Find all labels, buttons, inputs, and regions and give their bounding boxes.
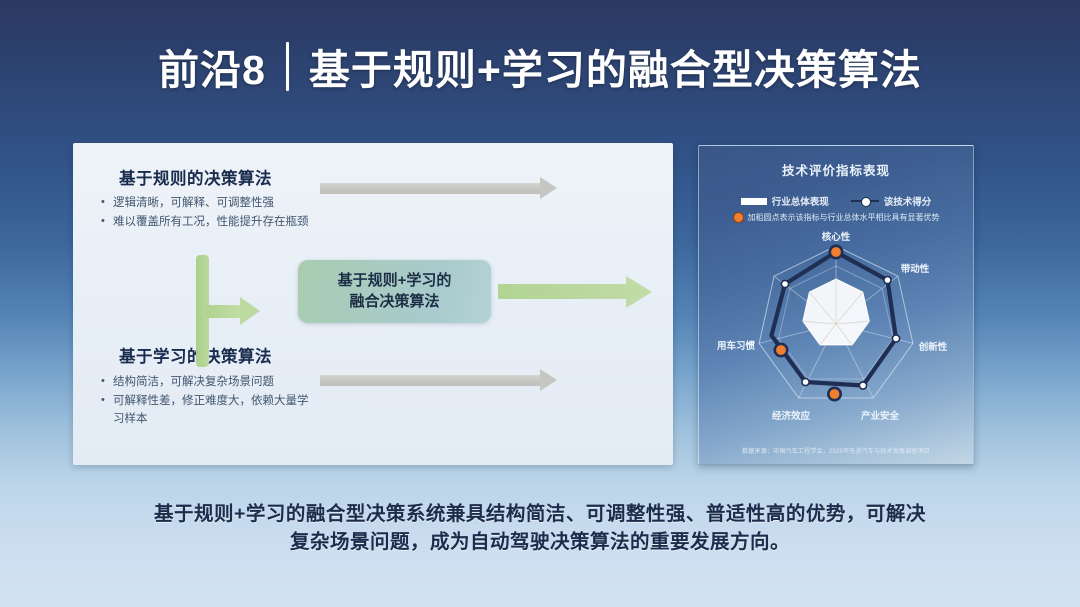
axis-label: 带动性: [901, 263, 930, 275]
rule-block-bullets: 逻辑清晰，可解释、可调整性强 难以覆盖所有工况，性能提升存在瓶颈: [100, 195, 315, 233]
title-tag: 前沿8: [158, 36, 266, 96]
legend-label: 行业总体表现: [772, 194, 829, 208]
axis-label: 用车习惯: [716, 340, 756, 352]
list-item: 逻辑清晰，可解释、可调整性强: [100, 195, 315, 213]
learning-block-bullets: 结构简洁，可解决复杂场景问题 可解释性差，修正难度大，依赖大量学习样本: [100, 374, 315, 429]
axis-label: 核心性: [822, 231, 851, 243]
fusion-algorithm-box: 基于规则+学习的 融合决策算法: [298, 260, 491, 323]
slide-caption: 基于规则+学习的融合型决策系统兼具结构简洁、可调整性强、普适性高的优势，可解决 …: [70, 500, 1010, 557]
slide-root: 前沿8 基于规则+学习的融合型决策算法 基于规则的决策算法 逻辑清晰，可解释、可…: [0, 0, 1080, 607]
data-point: [884, 277, 891, 284]
axis-label: 经济效应: [772, 410, 811, 422]
data-point: [781, 280, 788, 287]
technology-line-dot-icon: [851, 200, 879, 202]
radar-series-industry: [803, 279, 869, 345]
data-point-highlighted: [775, 344, 787, 356]
legend-note-text: 加粗圆点表示该指标与行业总体水平相比具有显著优势: [748, 212, 940, 223]
radar-chart-svg: 核心性 带动性 创新性 产业安全 经济效应 用车习惯: [699, 224, 973, 429]
fusion-algorithm-label: 基于规则+学习的 融合决策算法: [338, 271, 452, 312]
rule-block-heading: 基于规则的决策算法: [119, 165, 272, 189]
legend-item-industry: 行业总体表现: [741, 194, 829, 208]
legend-label: 该技术得分: [884, 194, 932, 208]
data-point: [859, 382, 866, 389]
radar-legend-note: 加粗圆点表示该指标与行业总体水平相比具有显著优势: [699, 212, 973, 223]
legend-item-technology: 该技术得分: [851, 194, 932, 208]
learning-flow-arrow: [320, 375, 540, 386]
axis-label: 产业安全: [861, 410, 900, 422]
slide-title-bar: 前沿8 基于规则+学习的融合型决策算法: [0, 36, 1080, 96]
title-divider: [286, 42, 289, 91]
radar-chart-panel: 技术评价指标表现 行业总体表现 该技术得分 加粗圆点表示该指标与行业总体水平相比…: [698, 145, 974, 465]
data-point: [802, 378, 809, 385]
merge-arrow-head: [240, 297, 260, 325]
list-item: 难以覆盖所有工况，性能提升存在瓶颈: [100, 214, 315, 232]
industry-swatch-icon: [741, 198, 767, 205]
data-point-highlighted: [828, 388, 840, 400]
highlight-dot-icon: [733, 212, 744, 223]
list-item: 可解释性差，修正难度大，依赖大量学习样本: [100, 393, 315, 429]
output-arrow: [498, 284, 626, 299]
rule-flow-arrow: [320, 183, 540, 194]
radar-source-note: 数据来源：中国汽车工程学会，2025年先进汽车与技术发展调查项目: [699, 446, 973, 455]
page-title: 基于规则+学习的融合型决策算法: [309, 36, 922, 96]
axis-label: 创新性: [918, 341, 948, 353]
merge-arrow: [196, 255, 256, 367]
merge-arrow-shaft: [206, 305, 242, 318]
radar-legend: 行业总体表现 该技术得分: [699, 194, 973, 208]
radar-chart-title: 技术评价指标表现: [699, 160, 973, 179]
list-item: 结构简洁，可解决复杂场景问题: [100, 374, 315, 392]
data-point-highlighted: [830, 246, 842, 258]
data-point: [892, 335, 899, 342]
